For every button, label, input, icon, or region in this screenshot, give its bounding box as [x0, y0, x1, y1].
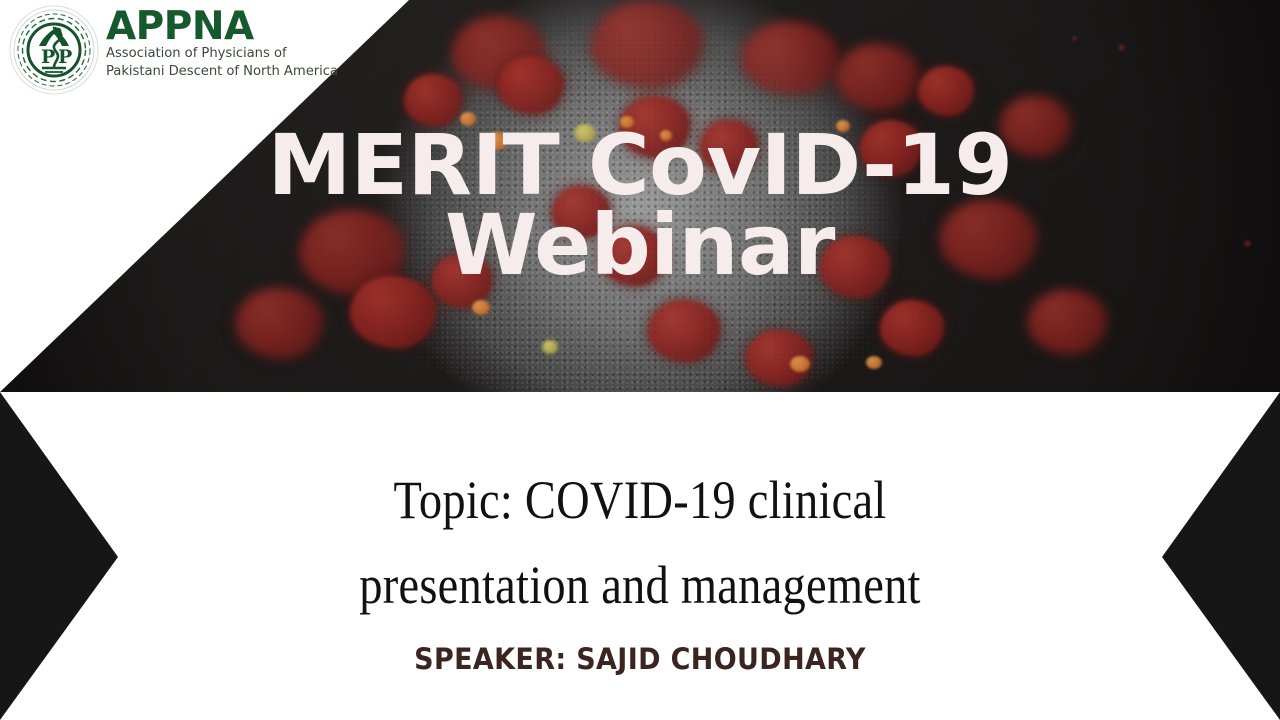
virus-protein-dot-icon: [472, 300, 490, 315]
virus-speck-icon: [1072, 36, 1077, 41]
lower-info-panel: Topic: COVID-19 clinical presentation an…: [0, 392, 1280, 720]
speaker-label: SPEAKER: SAJID CHOUDHARY: [45, 642, 1235, 676]
virus-spike-icon: [836, 44, 918, 110]
webinar-title-line-2: Webinar: [60, 206, 1220, 286]
org-name-line-1: Association of Physicians of: [106, 45, 338, 62]
webinar-title-line-1: MERIT CovID-19: [60, 126, 1220, 206]
org-acronym: APPNA: [106, 8, 338, 45]
appna-logo: P P APPNA Association of Physicians of P…: [8, 4, 338, 96]
svg-text:P: P: [58, 46, 72, 68]
virus-spike-icon: [236, 288, 322, 358]
topic-heading: Topic: COVID-19 clinical presentation an…: [236, 458, 1044, 629]
virus-protein-dot-icon: [542, 340, 558, 354]
appna-logo-text: APPNA Association of Physicians of Pakis…: [106, 4, 338, 80]
virus-spike-icon: [498, 56, 564, 114]
virus-spike-icon: [918, 66, 974, 116]
topic-line-2: presentation and management: [236, 543, 1044, 628]
topic-line-1: Topic: COVID-19 clinical: [236, 458, 1044, 543]
webinar-title-slide: P P APPNA Association of Physicians of P…: [0, 0, 1280, 720]
virus-spike-icon: [350, 276, 436, 348]
org-name-line-2: Pakistani Descent of North America: [106, 63, 338, 80]
virus-spike-icon: [648, 300, 720, 362]
virus-spike-icon: [1028, 290, 1106, 354]
appna-seal-icon: P P: [8, 4, 100, 96]
virus-protein-dot-icon: [790, 356, 810, 372]
hero-banner: P P APPNA Association of Physicians of P…: [0, 0, 1280, 392]
virus-protein-dot-icon: [866, 356, 882, 369]
svg-text:P: P: [41, 46, 55, 68]
webinar-title: MERIT CovID-19 Webinar: [0, 126, 1280, 286]
virus-spike-icon: [880, 300, 944, 356]
virus-speck-icon: [1118, 44, 1125, 51]
virus-spike-icon: [742, 22, 838, 94]
virus-spike-icon: [592, 2, 702, 88]
